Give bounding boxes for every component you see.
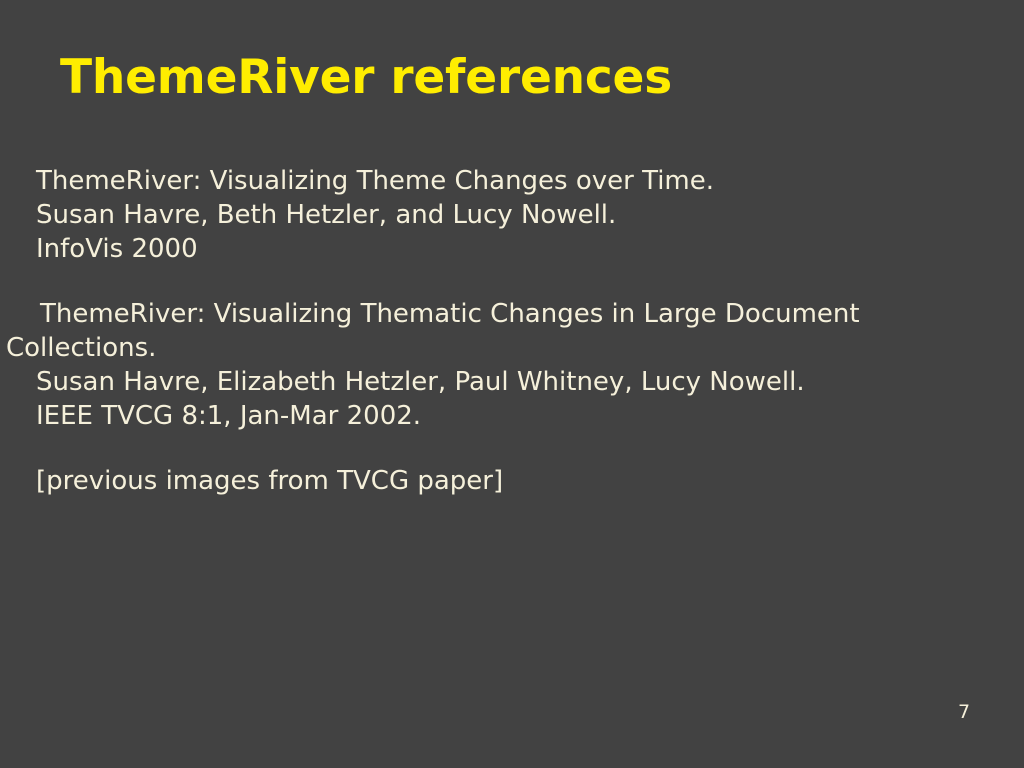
reference-entry-1: ThemeRiver: Visualizing Theme Changes ov… [0,164,1024,266]
reference-line: ThemeRiver: Visualizing Thematic Changes… [0,297,1024,331]
reference-line: ThemeRiver: Visualizing Theme Changes ov… [0,164,1024,198]
reference-entry-3: [previous images from TVCG paper] [0,464,1024,498]
reference-line: Susan Havre, Elizabeth Hetzler, Paul Whi… [0,365,1024,399]
source-note: [previous images from TVCG paper] [0,464,1024,498]
page-title: ThemeRiver references [60,52,672,105]
paragraph-spacer [0,266,1024,297]
reference-line: InfoVis 2000 [0,232,1024,266]
slide-canvas: ThemeRiver references ThemeRiver: Visual… [0,0,1024,768]
reference-line: Susan Havre, Beth Hetzler, and Lucy Nowe… [0,198,1024,232]
reference-line: IEEE TVCG 8:1, Jan-Mar 2002. [0,399,1024,433]
paragraph-spacer [0,433,1024,464]
reference-entry-2: ThemeRiver: Visualizing Thematic Changes… [0,297,1024,433]
reference-line-wrapped: Collections. [0,331,1024,365]
page-number: 7 [958,703,970,722]
reference-list: ThemeRiver: Visualizing Theme Changes ov… [0,164,1024,498]
